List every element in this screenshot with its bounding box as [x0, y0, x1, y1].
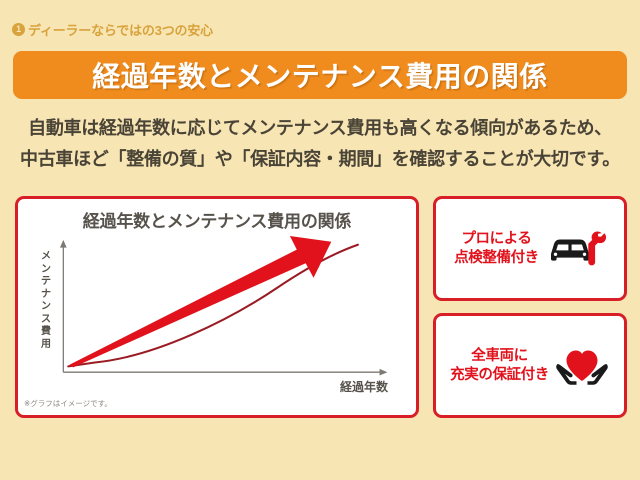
card-warranty-line-1: 全車両に — [450, 347, 549, 366]
card-inspection-line-2: 点検整備付き — [454, 249, 539, 268]
chart-x-axis-label: 経過年数 — [340, 378, 388, 395]
chart-disclaimer-note: ※グラフはイメージです。 — [24, 398, 112, 409]
lead-paragraph: 自動車は経過年数に応じてメンテナンス費用も高くなる傾向があるため、 中古車ほど「… — [0, 113, 640, 175]
eyebrow-label: 1 ディーラーならではの3つの安心 — [12, 20, 213, 39]
lead-line-1: 自動車は経過年数に応じてメンテナンス費用も高くなる傾向があるため、 — [0, 113, 640, 144]
content-row: 経過年数とメンテナンス費用の関係 メンテナンス費用 経過年数 ※グラフはイメージ… — [15, 196, 627, 418]
car-wrench-icon — [544, 228, 606, 270]
card-warranty-line-2: 充実の保証付き — [450, 366, 549, 385]
card-inspection-line-1: プロによる — [454, 230, 539, 249]
section-banner: 経過年数とメンテナンス費用の関係 — [13, 51, 627, 99]
y-axis-arrowhead — [60, 240, 67, 248]
lead-line-2: 中古車ほど「整備の質」や「保証内容・期間」を確認することが大切です。 — [0, 144, 640, 175]
banner-title: 経過年数とメンテナンス費用の関係 — [92, 55, 547, 95]
x-axis-arrowhead — [380, 369, 388, 376]
card-warranty-text: 全車両に 充実の保証付き — [450, 347, 549, 385]
chart-panel: 経過年数とメンテナンス費用の関係 メンテナンス費用 経過年数 ※グラフはイメージ… — [15, 196, 419, 418]
card-warranty[interactable]: 全車両に 充実の保証付き — [433, 313, 627, 418]
growth-arrow — [69, 236, 331, 367]
chart-y-axis-label: メンテナンス費用 — [38, 251, 54, 351]
card-inspection-text: プロによる 点検整備付き — [454, 230, 539, 268]
card-inspection[interactable]: プロによる 点検整備付き — [433, 196, 627, 301]
step-number-badge: 1 — [12, 23, 25, 36]
feature-cards: プロによる 点検整備付き — [433, 196, 627, 418]
eyebrow-text: ディーラーならではの3つの安心 — [28, 20, 213, 39]
hands-heart-icon — [554, 343, 610, 389]
